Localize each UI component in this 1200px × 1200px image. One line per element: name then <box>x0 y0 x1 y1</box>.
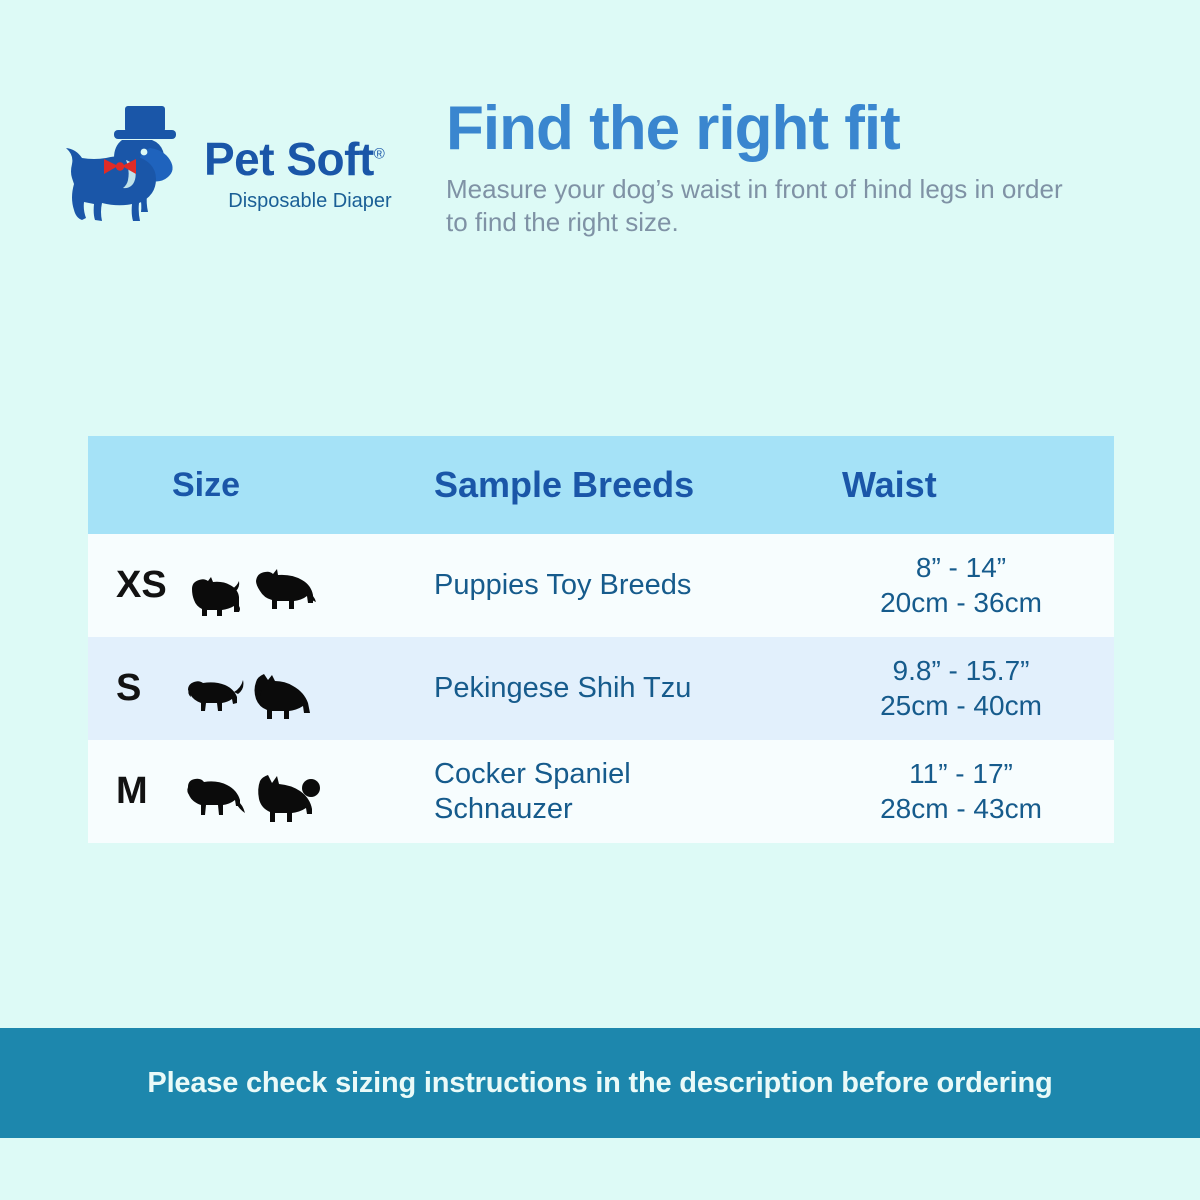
column-header-size: Size <box>88 466 418 505</box>
waist-cm: 28cm - 43cm <box>808 792 1114 826</box>
table-row: S Pekingese Shih Tzu 9.8” - 15.7” 25cm -… <box>88 637 1114 740</box>
waist-cell: 8” - 14” 20cm - 36cm <box>808 551 1114 619</box>
size-cell: S <box>88 658 418 720</box>
column-header-sample-breeds: Sample Breeds <box>418 464 808 506</box>
spaniel-silhouette-icon <box>250 567 316 617</box>
registered-trademark-icon: ® <box>374 146 385 163</box>
size-label: S <box>88 667 184 710</box>
breeds-cell: Puppies Toy Breeds <box>418 568 808 602</box>
page-header: Pet Soft® Disposable Diaper Find the rig… <box>0 0 1200 300</box>
size-label: M <box>88 770 184 813</box>
waist-inches: 9.8” - 15.7” <box>808 654 1114 688</box>
size-cell: M <box>88 761 418 823</box>
table-header-row: Size Sample Breeds Waist <box>88 436 1114 534</box>
column-header-waist: Waist <box>808 464 1114 506</box>
footer-banner: Please check sizing instructions in the … <box>0 1028 1200 1138</box>
brand-logo: Pet Soft® Disposable Diaper <box>52 100 422 240</box>
brand-name: Pet Soft® <box>204 136 424 182</box>
schnauzer-silhouette-icon <box>254 668 318 720</box>
page-title: Find the right fit <box>446 96 1146 161</box>
waist-cell: 9.8” - 15.7” 25cm - 40cm <box>808 654 1114 722</box>
brand-name-text: Pet Soft <box>204 133 374 185</box>
breeds-text: Cocker Spaniel <box>418 757 808 791</box>
table-row: XS Puppies Toy Breeds 8” - 14” 20cm - 36… <box>88 534 1114 637</box>
size-label: XS <box>88 564 184 607</box>
footer-message: Please check sizing instructions in the … <box>147 1067 1052 1100</box>
hound-silhouette-icon <box>184 674 244 720</box>
table-row: M Cocker Spaniel Schnauzer 11” - 17” 28c… <box>88 740 1114 843</box>
dog-silhouette-pair <box>184 761 322 823</box>
labrador-silhouette-icon <box>184 773 246 823</box>
waist-cm: 20cm - 36cm <box>808 586 1114 620</box>
brand-wordmark: Pet Soft® Disposable Diaper <box>204 136 424 213</box>
breeds-text: Puppies Toy Breeds <box>418 568 808 602</box>
headline-block: Find the right fit Measure your dog’s wa… <box>446 96 1146 240</box>
waist-inches: 11” - 17” <box>808 757 1114 791</box>
size-cell: XS <box>88 555 418 617</box>
waist-cm: 25cm - 40cm <box>808 689 1114 723</box>
schnauzer-with-top-hat-and-bowtie-icon <box>52 100 202 230</box>
breeds-cell: Pekingese Shih Tzu <box>418 671 808 705</box>
breeds-text: Pekingese Shih Tzu <box>418 671 808 705</box>
sizing-table: Size Sample Breeds Waist XS Puppies Toy … <box>88 436 1114 843</box>
small-terrier-silhouette-icon <box>184 573 240 617</box>
dog-silhouette-pair <box>184 555 316 617</box>
page-subtitle: Measure your dog’s waist in front of hin… <box>446 173 1086 240</box>
waist-cell: 11” - 17” 28cm - 43cm <box>808 757 1114 825</box>
breeds-cell: Cocker Spaniel Schnauzer <box>418 757 808 825</box>
spitz-silhouette-icon <box>256 771 322 823</box>
waist-inches: 8” - 14” <box>808 551 1114 585</box>
brand-tagline: Disposable Diaper <box>204 190 416 213</box>
dog-silhouette-pair <box>184 658 318 720</box>
breeds-text-line2: Schnauzer <box>418 792 808 826</box>
